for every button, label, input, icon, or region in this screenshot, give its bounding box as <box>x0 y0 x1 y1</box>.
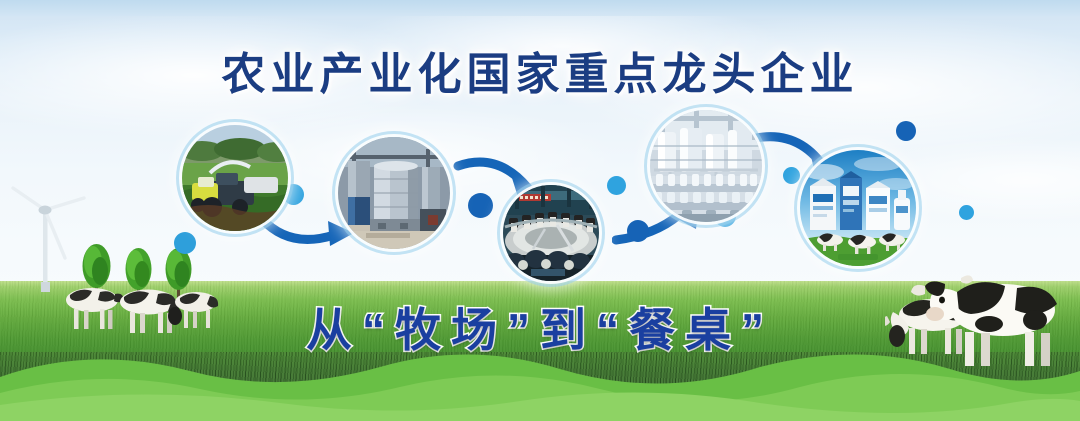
harvester-icon <box>182 125 288 231</box>
milk-carton-icon <box>800 150 916 266</box>
circle-milk-products[interactable] <box>800 150 916 266</box>
accent-dot-6 <box>627 220 649 242</box>
circle-milking-parlor[interactable] <box>503 185 599 281</box>
accent-dot-3 <box>468 193 493 218</box>
sky-top-band <box>0 0 1080 16</box>
decorative-wave-hills <box>0 341 1080 421</box>
dairy-process-banner: 农业产业化国家重点龙头企业 从“牧场”到“餐桌” <box>0 0 1080 421</box>
silo-icon <box>338 137 450 249</box>
factory-icon <box>650 110 762 222</box>
circle-forage-harvest[interactable] <box>182 125 288 231</box>
accent-dot-9 <box>959 205 974 220</box>
milking-icon <box>503 185 599 281</box>
accent-dot-1 <box>174 232 196 254</box>
accent-dot-7 <box>783 167 800 184</box>
accent-dot-8 <box>896 121 916 141</box>
accent-dot-4 <box>607 176 626 195</box>
circle-feed-silo[interactable] <box>338 137 450 249</box>
page-title: 农业产业化国家重点龙头企业 <box>0 38 1080 102</box>
circle-dairy-plant[interactable] <box>650 110 762 222</box>
